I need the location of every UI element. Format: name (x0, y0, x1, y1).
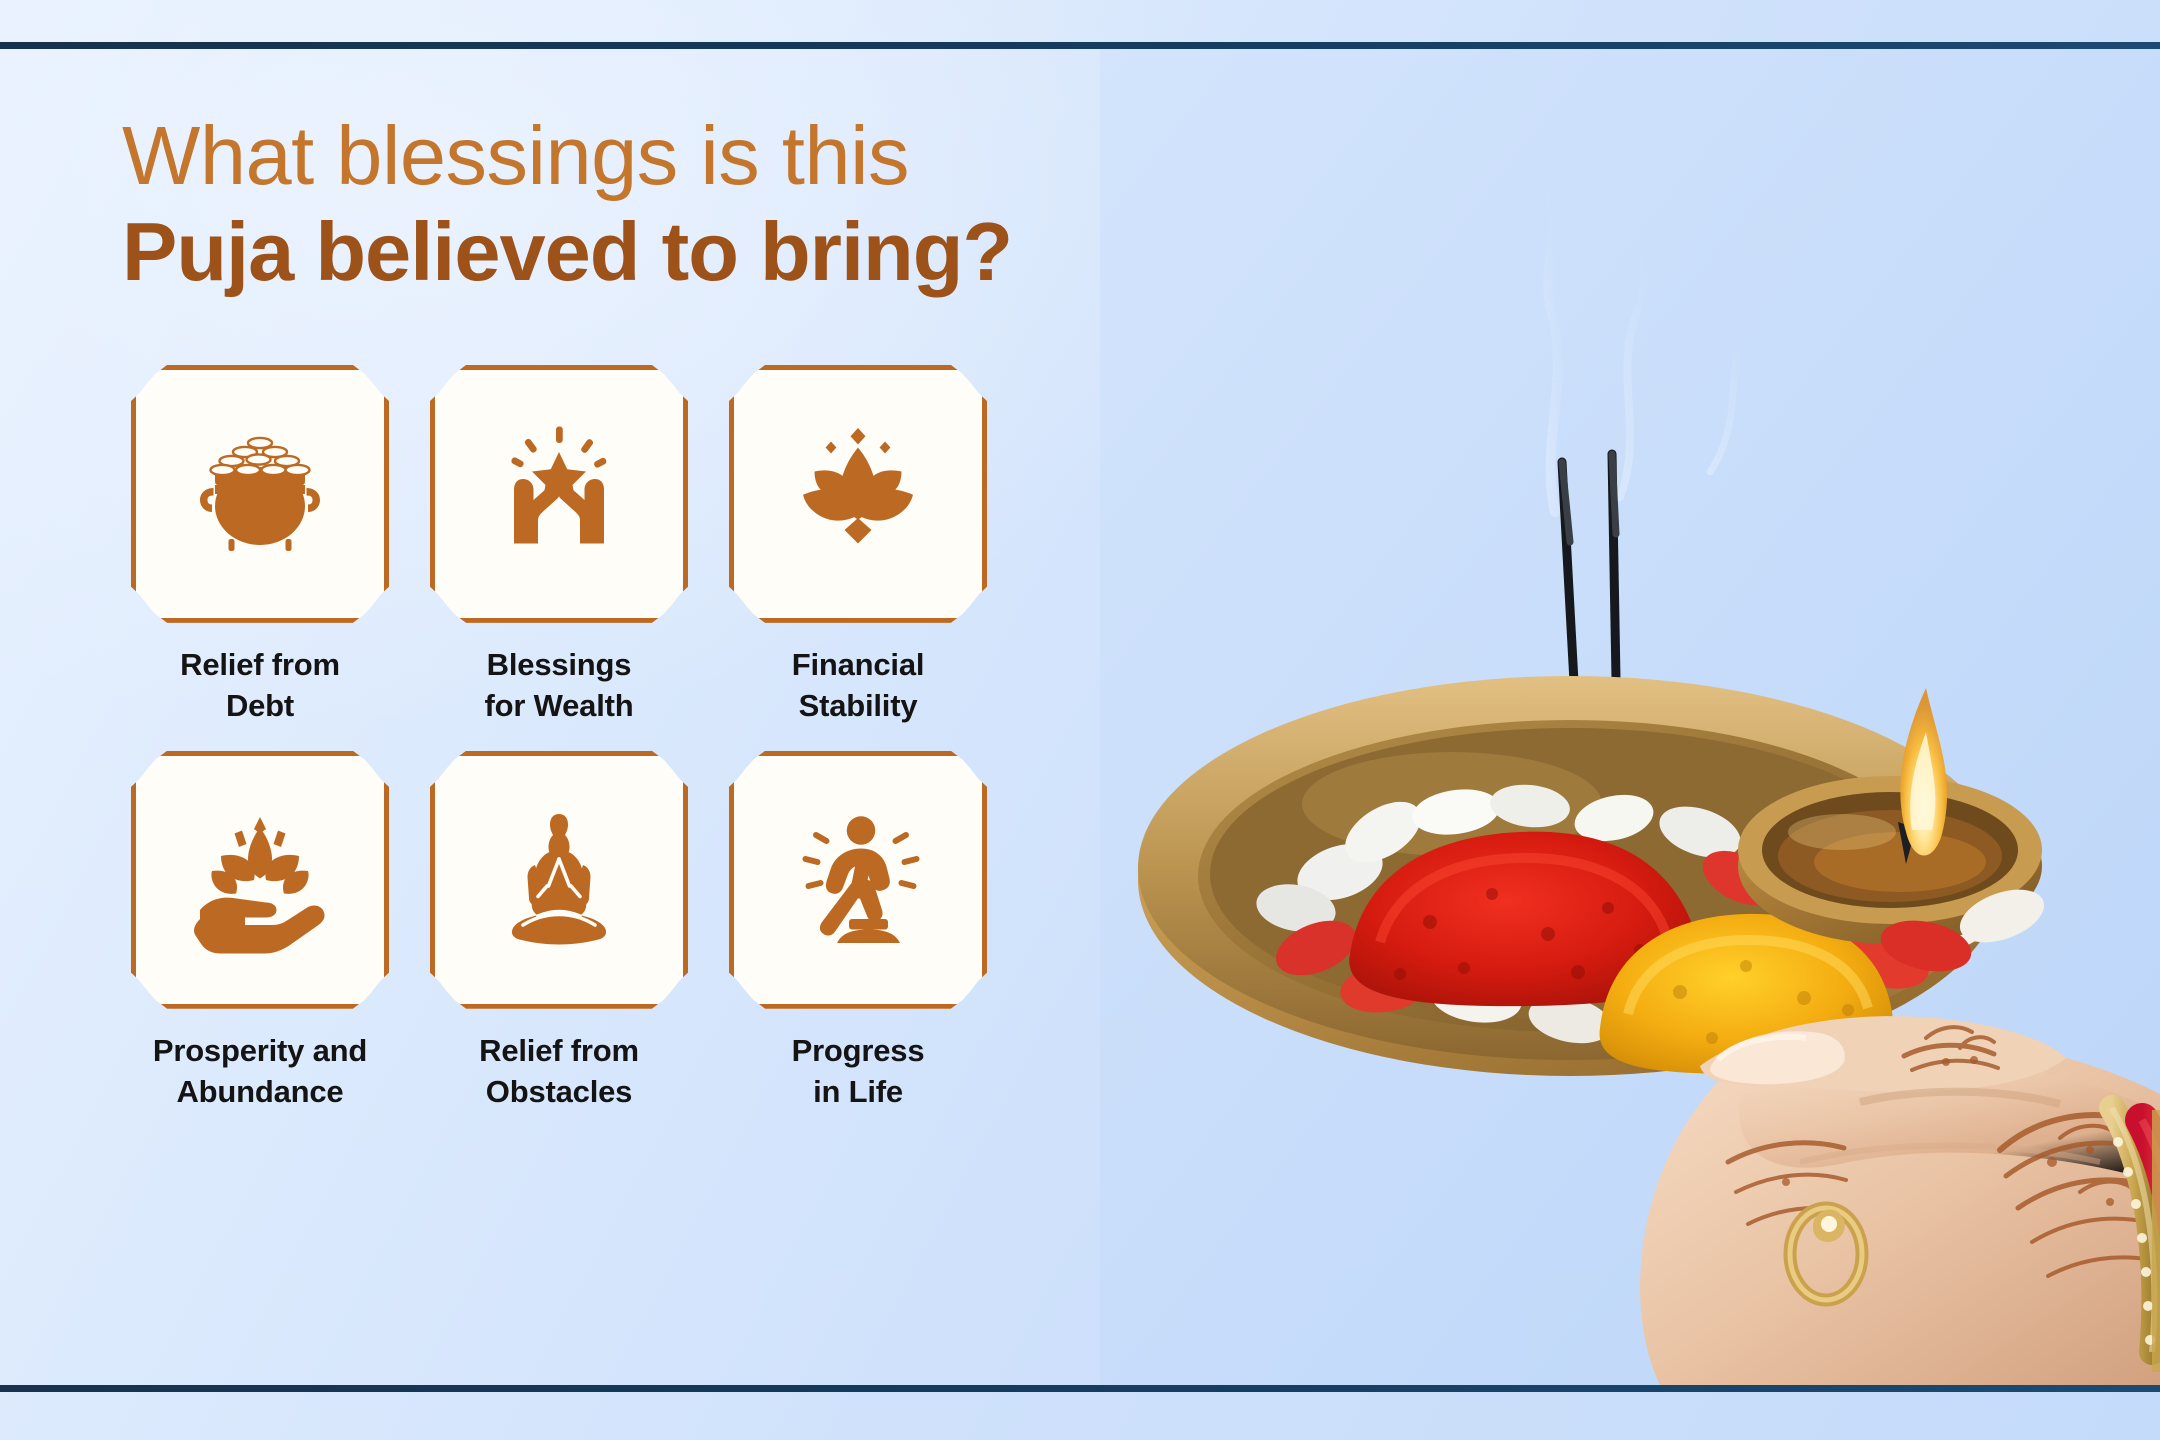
benefit-icon-card (131, 365, 389, 623)
page-title: What blessings is this Puja believed to … (122, 112, 1230, 299)
benefit-item-financial-stability[interactable]: Financial Stability (720, 365, 996, 727)
person-stepping-up-icon (783, 805, 933, 955)
benefit-label: Prosperity and Abundance (153, 1031, 367, 1113)
benefits-grid: Relief from Debt (122, 365, 1002, 1113)
content-column: What blessings is this Puja believed to … (0, 42, 1230, 1385)
money-pot-icon (185, 419, 335, 569)
benefit-icon-card (729, 751, 987, 1009)
benefit-icon-card (430, 365, 688, 623)
benefit-label: Financial Stability (792, 645, 925, 727)
hand-holding-thali (1640, 1016, 2160, 1385)
benefit-label: Relief from Obstacles (479, 1031, 639, 1113)
bottom-divider-rule (0, 1385, 2160, 1392)
benefit-item-blessings-for-wealth[interactable]: Blessings for Wealth (421, 365, 697, 727)
meditating-person-icon (484, 805, 634, 955)
benefit-item-relief-from-obstacles[interactable]: Relief from Obstacles (421, 751, 697, 1113)
lotus-flower-icon (783, 419, 933, 569)
benefit-label: Progress in Life (792, 1031, 925, 1113)
puja-thali-photo (1100, 42, 2160, 1385)
benefit-item-prosperity-and-abundance[interactable]: Prosperity and Abundance (122, 751, 398, 1113)
hands-star-icon (484, 419, 634, 569)
benefit-icon-card (131, 751, 389, 1009)
headline-line-2: Puja believed to bring? (122, 206, 1230, 299)
benefit-item-relief-from-debt[interactable]: Relief from Debt (122, 365, 398, 727)
benefit-label: Blessings for Wealth (485, 645, 634, 727)
hand-lotus-icon (185, 805, 335, 955)
benefit-icon-card (729, 365, 987, 623)
benefit-label: Relief from Debt (180, 645, 340, 727)
benefit-item-progress-in-life[interactable]: Progress in Life (720, 751, 996, 1113)
top-divider-rule (0, 42, 2160, 49)
headline-line-1: What blessings is this (122, 112, 1230, 200)
benefit-icon-card (430, 751, 688, 1009)
poster-canvas: What blessings is this Puja believed to … (0, 0, 2160, 1440)
